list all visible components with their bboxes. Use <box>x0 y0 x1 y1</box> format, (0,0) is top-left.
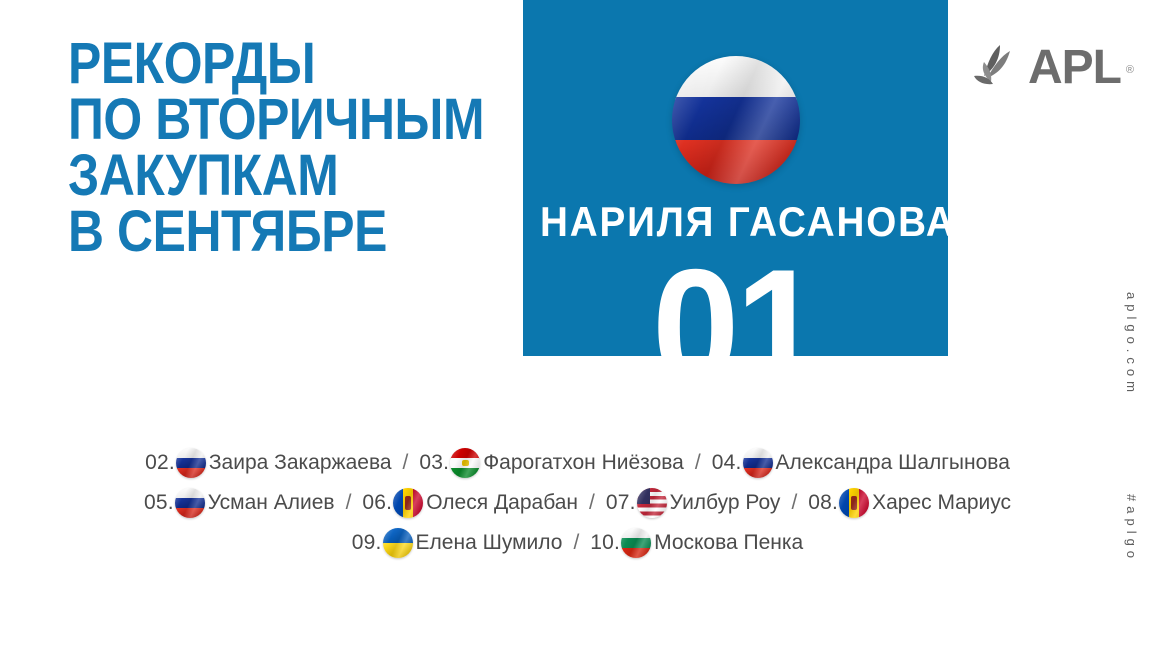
moldova-flag-icon <box>839 488 869 518</box>
entry-separator: / <box>589 491 595 515</box>
entry-rank: 06. <box>362 491 392 515</box>
entry-separator: / <box>695 451 701 475</box>
russia-flag-icon <box>176 448 206 478</box>
moldova-flag-icon <box>393 488 423 518</box>
entry-rank: 05. <box>144 491 174 515</box>
page-title: РЕКОРДЫ ПО ВТОРИЧНЫМ ЗАКУПКАМ В СЕНТЯБРЕ <box>68 36 508 260</box>
website-vertical-text: aplgo.com <box>1124 292 1139 397</box>
entry-rank: 09. <box>352 531 382 555</box>
entry-name: Александра Шалгынова <box>776 451 1010 475</box>
title-line-2: ПО ВТОРИЧНЫМ <box>68 92 446 148</box>
title-line-1: РЕКОРДЫ <box>68 36 446 92</box>
entry-rank: 03. <box>419 451 449 475</box>
list-item: 03.Фарогатхон Ниёзова <box>419 448 683 478</box>
entry-rank: 08. <box>808 491 838 515</box>
entry-rank: 02. <box>145 451 175 475</box>
list-item: 02.Заира Закаржаева <box>145 448 391 478</box>
list-item: 10.Москова Пенка <box>590 528 803 558</box>
title-line-4: В СЕНТЯБРЕ <box>68 204 446 260</box>
entry-separator: / <box>346 491 352 515</box>
entry-name: Харес Мариус <box>872 491 1011 515</box>
entry-separator: / <box>573 531 579 555</box>
leaf-icon <box>970 42 1022 94</box>
list-item: 07.Уилбур Роу <box>606 488 781 518</box>
ukraine-flag-icon <box>383 528 413 558</box>
entry-name: Усман Алиев <box>208 491 335 515</box>
slide-root: РЕКОРДЫ ПО ВТОРИЧНЫМ ЗАКУПКАМ В СЕНТЯБРЕ… <box>0 0 1155 650</box>
logo-wordmark: APL ® <box>1028 44 1121 92</box>
list-item: 04.Александра Шалгынова <box>712 448 1010 478</box>
russia-flag-icon <box>672 56 800 184</box>
entry-name: Уилбур Роу <box>670 491 781 515</box>
list-row: 05.Усман Алиев/06.Олеся Дарабан/07.Уилбу… <box>144 488 1011 518</box>
list-item: 09.Елена Шумило <box>352 528 563 558</box>
entry-name: Заира Закаржаева <box>209 451 392 475</box>
registered-mark: ® <box>1126 46 1133 94</box>
entry-rank: 07. <box>606 491 636 515</box>
list-row: 02.Заира Закаржаева/03.Фарогатхон Ниёзов… <box>145 448 1010 478</box>
bulgaria-flag-icon <box>621 528 651 558</box>
entry-rank: 10. <box>590 531 620 555</box>
list-row: 09.Елена Шумило/10.Москова Пенка <box>352 528 804 558</box>
apl-logo: APL ® <box>970 42 1121 94</box>
entry-name: Фарогатхон Ниёзова <box>483 451 684 475</box>
entry-name: Москова Пенка <box>654 531 803 555</box>
winner-panel: НАРИЛЯ ГАСАНОВА 01 <box>523 0 948 356</box>
winner-rank: 01 <box>534 252 938 402</box>
runners-up-list: 02.Заира Закаржаева/03.Фарогатхон Ниёзов… <box>0 448 1155 558</box>
logo-text-label: APL <box>1028 41 1121 94</box>
title-line-3: ЗАКУПКАМ <box>68 148 446 204</box>
list-item: 06.Олеся Дарабан <box>362 488 578 518</box>
hashtag-vertical-text: #aplgo <box>1124 494 1139 563</box>
entry-separator: / <box>403 451 409 475</box>
list-item: 08.Харес Мариус <box>808 488 1011 518</box>
entry-name: Олеся Дарабан <box>426 491 578 515</box>
entry-rank: 04. <box>712 451 742 475</box>
list-item: 05.Усман Алиев <box>144 488 335 518</box>
entry-name: Елена Шумило <box>416 531 563 555</box>
russia-flag-icon <box>743 448 773 478</box>
russia-flag-icon <box>175 488 205 518</box>
entry-separator: / <box>791 491 797 515</box>
tajikistan-flag-icon <box>450 448 480 478</box>
usa-flag-icon <box>637 488 667 518</box>
